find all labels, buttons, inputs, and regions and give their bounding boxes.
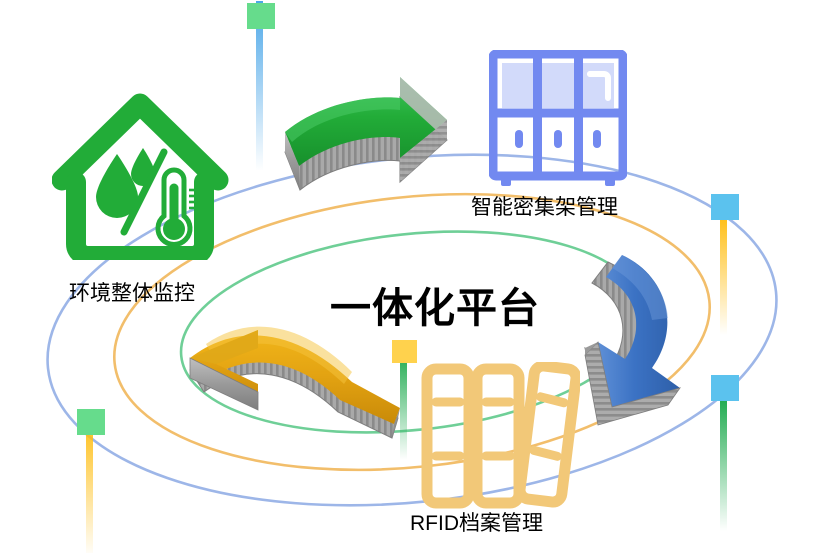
page-title: 一体化平台 (330, 274, 540, 334)
marker-right-lower (711, 375, 739, 531)
label-smart-compact-shelving: 智能密集架管理 (471, 197, 618, 218)
marker-center (392, 340, 417, 460)
thermometer-icon (158, 170, 200, 244)
label-environment-monitoring: 环境整体监控 (69, 283, 195, 304)
marker-right-upper (711, 194, 739, 335)
infographic-canvas: 一体化平台 环境整体监控 智能密集架管理 RFID档案管理 (0, 0, 825, 553)
arrow-right (585, 255, 680, 425)
arrow-left (190, 327, 400, 438)
house-humidity-temperature-icon (52, 92, 232, 260)
storage-cabinet-icon (489, 50, 627, 190)
marker-bottom-left (77, 409, 105, 553)
label-rfid-archive-management: RFID档案管理 (410, 513, 543, 534)
arrow-top (285, 77, 447, 190)
archive-binders-icon (420, 362, 580, 510)
marker-top-left (247, 1, 275, 171)
water-drop-large-icon (96, 154, 138, 218)
